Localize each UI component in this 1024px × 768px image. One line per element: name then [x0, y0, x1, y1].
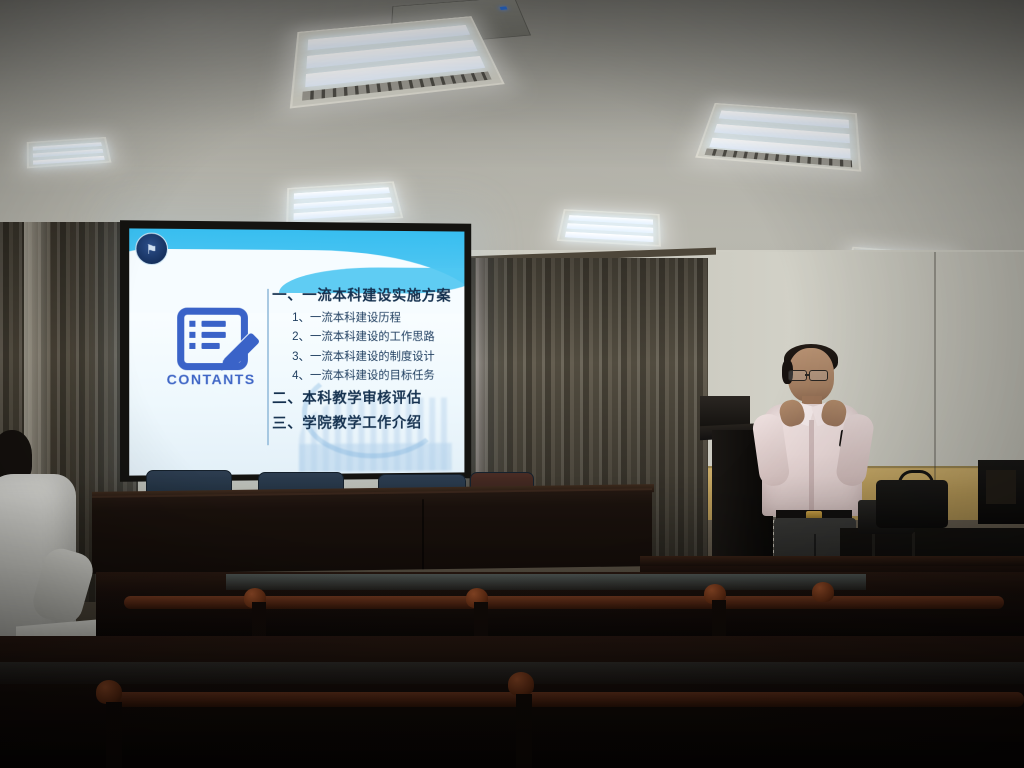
- lecture-hall-photo: ⚑ CONTANTS 一、一流本科建设实施方案1、一流: [0, 0, 1024, 768]
- slide-outline-item: 三、学院教学工作介绍: [272, 411, 454, 433]
- university-emblem-icon: ⚑: [135, 233, 168, 266]
- slide-outline-item: 二、本科教学审核评估: [272, 386, 454, 408]
- slide-outline-item: 1、一流本科建设历程: [292, 309, 454, 325]
- slide-surface: ⚑ CONTANTS 一、一流本科建设实施方案1、一流: [129, 228, 464, 475]
- slide-outline-item: 2、一流本科建设的工作思路: [292, 328, 454, 344]
- slide-outline-list: 一、一流本科建设实施方案1、一流本科建设历程2、一流本科建设的工作思路3、一流本…: [272, 284, 454, 437]
- monitor-screen: [986, 470, 1016, 504]
- slide-outline-item: 4、一流本科建设的目标任务: [292, 367, 454, 383]
- bench-row-back: [96, 572, 1024, 642]
- eyeglasses-icon-right: [809, 370, 828, 381]
- document-list-pencil-icon: [177, 308, 246, 369]
- slide-contents-logo: CONTANTS: [160, 308, 262, 388]
- contents-logo-label: CONTANTS: [160, 371, 262, 387]
- slide-outline-item: 3、一流本科建设的制度设计: [292, 348, 454, 364]
- ceiling-light-icon-5: [557, 209, 661, 247]
- eyeglasses-bridge-icon: [805, 374, 810, 376]
- slide-vertical-divider: [267, 288, 269, 445]
- front-conference-desk: [92, 488, 652, 574]
- shirt-placket: [809, 420, 814, 512]
- projection-screen: ⚑ CONTANTS 一、一流本科建设实施方案1、一流: [120, 220, 471, 482]
- slide-outline-item: 一、一流本科建设实施方案: [272, 284, 454, 306]
- ac-led-icon: [500, 6, 508, 10]
- laptop-bag: [876, 480, 948, 528]
- bench-row-front: [0, 636, 1024, 768]
